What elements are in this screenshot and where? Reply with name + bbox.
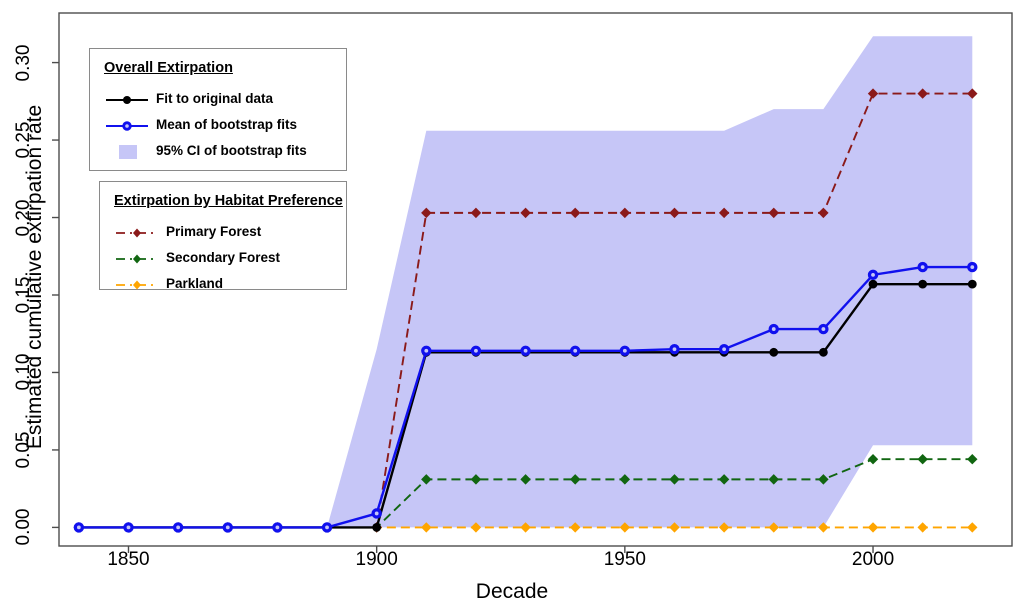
legend-label-bootstrap-mean: Mean of bootstrap fits [156,117,297,132]
marker-mean-of-bootstrap-fits-center [623,349,627,353]
marker-fit-to-original-data [819,348,828,357]
marker-mean-of-bootstrap-fits-center [474,349,478,353]
marker-mean-of-bootstrap-fits-center [970,265,974,269]
legend-label-secondary-forest: Secondary Forest [166,250,280,265]
marker-fit-to-original-data [869,280,878,289]
marker-mean-of-bootstrap-fits-center [275,526,279,530]
legend-key-secondary-forest [114,252,160,266]
legend-overall-extirpation: Overall Extirpation Fit to original data… [89,48,347,171]
marker-secondary-forest [868,454,878,464]
marker-fit-to-original-data [918,280,927,289]
marker-mean-of-bootstrap-fits-center [772,327,776,331]
legend-label-fit-original: Fit to original data [156,91,273,106]
marker-parkland [967,522,977,532]
marker-fit-to-original-data [968,280,977,289]
marker-parkland [868,522,878,532]
marker-mean-of-bootstrap-fits-center [722,347,726,351]
marker-mean-of-bootstrap-fits-center [871,273,875,277]
legend-key-parkland [114,278,160,292]
legend-label-primary-forest: Primary Forest [166,224,261,239]
marker-mean-of-bootstrap-fits-center [77,526,81,530]
marker-mean-of-bootstrap-fits-center [821,327,825,331]
legend-habitat-preference: Extirpation by Habitat Preference Primar… [99,181,347,290]
marker-secondary-forest [967,454,977,464]
legend-label-parkland: Parkland [166,276,223,291]
marker-mean-of-bootstrap-fits-center [921,265,925,269]
marker-mean-of-bootstrap-fits-center [375,512,379,516]
marker-mean-of-bootstrap-fits-center [176,526,180,530]
legend-key-primary-forest [114,226,160,240]
marker-mean-of-bootstrap-fits-center [673,347,677,351]
marker-mean-of-bootstrap-fits-center [127,526,131,530]
marker-mean-of-bootstrap-fits-center [524,349,528,353]
legend-key-ci-band [104,145,150,159]
marker-mean-of-bootstrap-fits-center [325,526,329,530]
marker-mean-of-bootstrap-fits-center [226,526,230,530]
legend-key-bootstrap-mean [104,119,150,133]
marker-mean-of-bootstrap-fits-center [424,349,428,353]
marker-fit-to-original-data [372,523,381,532]
legend-key-fit-original [104,93,150,107]
marker-mean-of-bootstrap-fits-center [573,349,577,353]
legend-habitat-title: Extirpation by Habitat Preference [114,193,343,209]
legend-overall-title: Overall Extirpation [104,60,233,76]
legend-label-ci-band: 95% CI of bootstrap fits [156,143,307,158]
chart-figure: Estimated cumulative extirpation rate De… [0,0,1024,614]
marker-secondary-forest [917,454,927,464]
marker-fit-to-original-data [769,348,778,357]
marker-parkland [917,522,927,532]
